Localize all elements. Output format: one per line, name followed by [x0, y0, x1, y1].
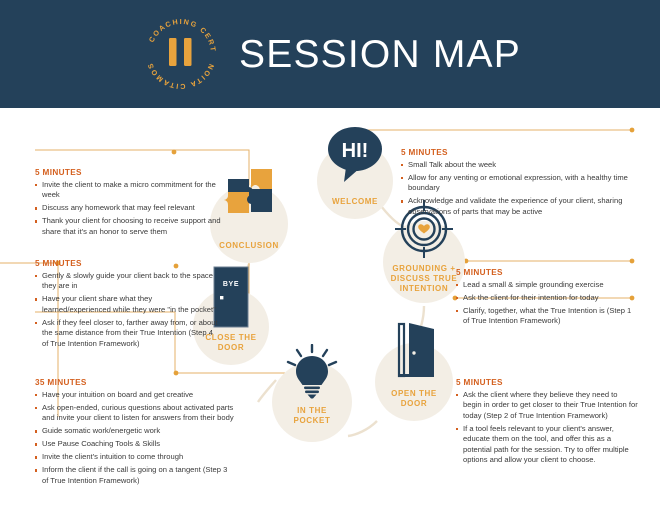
speech-bubble-icon: HI! — [324, 125, 386, 188]
list-item: Ask open-ended, curious questions about … — [35, 403, 235, 424]
list-item: Ask the client for their intention for t… — [456, 293, 634, 303]
node-in-the-pocket[interactable]: IN THEPOCKET — [272, 362, 352, 442]
node-label-in-the-pocket: IN THEPOCKET — [274, 406, 349, 442]
duration-close-the-door: 5 MINUTES — [35, 259, 220, 268]
callout-conclusion: 5 MINUTES Invite the client to make a mi… — [35, 168, 233, 240]
list-item: Have your intuition on board and get cre… — [35, 390, 235, 400]
list-item: Clarify, together, what the True Intenti… — [456, 306, 634, 327]
list-item: Gently & slowly guide your client back t… — [35, 271, 220, 292]
node-grounding[interactable]: GROUNDING +DISCUSS TRUEINTENTION — [383, 221, 465, 303]
list-item: Have your client share what they learned… — [35, 294, 220, 315]
page-header: COACHING CERTIFIC NOITA CITAMOS SESSION … — [0, 0, 660, 108]
node-label-conclusion: CONCLUSION — [212, 241, 285, 263]
list-item: Guide somatic work/energetic work — [35, 426, 235, 436]
list-item: Use Pause Coaching Tools & Skills — [35, 439, 235, 449]
bullet-list-conclusion: Invite the client to make a micro commit… — [35, 180, 233, 237]
list-item: If a tool feels relevant to your client'… — [456, 424, 638, 466]
somatic-coaching-certification-logo: COACHING CERTIFIC NOITA CITAMOS — [139, 12, 223, 96]
callout-in-the-pocket: 35 MINUTES Have your intuition on board … — [35, 378, 235, 489]
svg-text:COACHING CERTIFIC: COACHING CERTIFIC — [139, 12, 218, 53]
svg-text:NOITA CITAMOS: NOITA CITAMOS — [145, 61, 216, 91]
node-label-grounding: GROUNDING +DISCUSS TRUEINTENTION — [385, 264, 462, 303]
list-item: Invite the client's intuition to come th… — [35, 452, 235, 462]
bullet-list-grounding: Lead a small & simple grounding exercise… — [456, 280, 634, 327]
duration-welcome: 5 MINUTES — [401, 148, 633, 157]
callout-close-the-door: 5 MINUTES Gently & slowly guide your cli… — [35, 259, 220, 352]
bullet-list-welcome: Small Talk about the weekAllow for any v… — [401, 160, 633, 217]
callout-grounding: 5 MINUTES Lead a small & simple groundin… — [456, 268, 634, 329]
list-item: Acknowledge and validate the experience … — [401, 196, 633, 217]
node-label-open-the-door: OPEN THEDOOR — [377, 389, 450, 421]
list-item: Allow for any venting or emotional expre… — [401, 173, 633, 194]
door-sign-text: BYE — [223, 281, 239, 288]
duration-grounding: 5 MINUTES — [456, 268, 634, 277]
node-open-the-door[interactable]: OPEN THEDOOR — [375, 343, 453, 421]
duration-conclusion: 5 MINUTES — [35, 168, 233, 177]
bullet-list-close-the-door: Gently & slowly guide your client back t… — [35, 271, 220, 349]
duration-in-the-pocket: 35 MINUTES — [35, 378, 235, 387]
list-item: Inform the client if the call is going o… — [35, 465, 235, 486]
duration-open-the-door: 5 MINUTES — [456, 378, 638, 387]
lightbulb-icon — [284, 344, 340, 405]
list-item: Ask if they feel closer to, farther away… — [35, 318, 220, 349]
list-item: Invite the client to make a micro commit… — [35, 180, 233, 201]
list-item: Lead a small & simple grounding exercise — [456, 280, 634, 290]
callout-welcome: 5 MINUTES Small Talk about the weekAllow… — [401, 148, 633, 220]
session-map-infographic: COACHING CERTIFIC NOITA CITAMOS SESSION … — [0, 0, 660, 510]
list-item: Ask the client where they believe they n… — [456, 390, 638, 421]
open-door-icon — [387, 322, 441, 385]
bullet-list-in-the-pocket: Have your intuition on board and get cre… — [35, 390, 235, 486]
speech-bubble-text: HI! — [342, 140, 369, 162]
node-label-welcome: WELCOME — [319, 197, 390, 219]
list-item: Thank your client for choosing to receiv… — [35, 216, 233, 237]
list-item: Discuss any homework that may feel relev… — [35, 203, 233, 213]
list-item: Small Talk about the week — [401, 160, 633, 170]
bullet-list-open-the-door: Ask the client where they believe they n… — [456, 390, 638, 466]
callout-open-the-door: 5 MINUTES Ask the client where they beli… — [456, 378, 638, 468]
node-welcome[interactable]: HI! WELCOME — [317, 143, 393, 219]
page-title: SESSION MAP — [239, 35, 521, 74]
